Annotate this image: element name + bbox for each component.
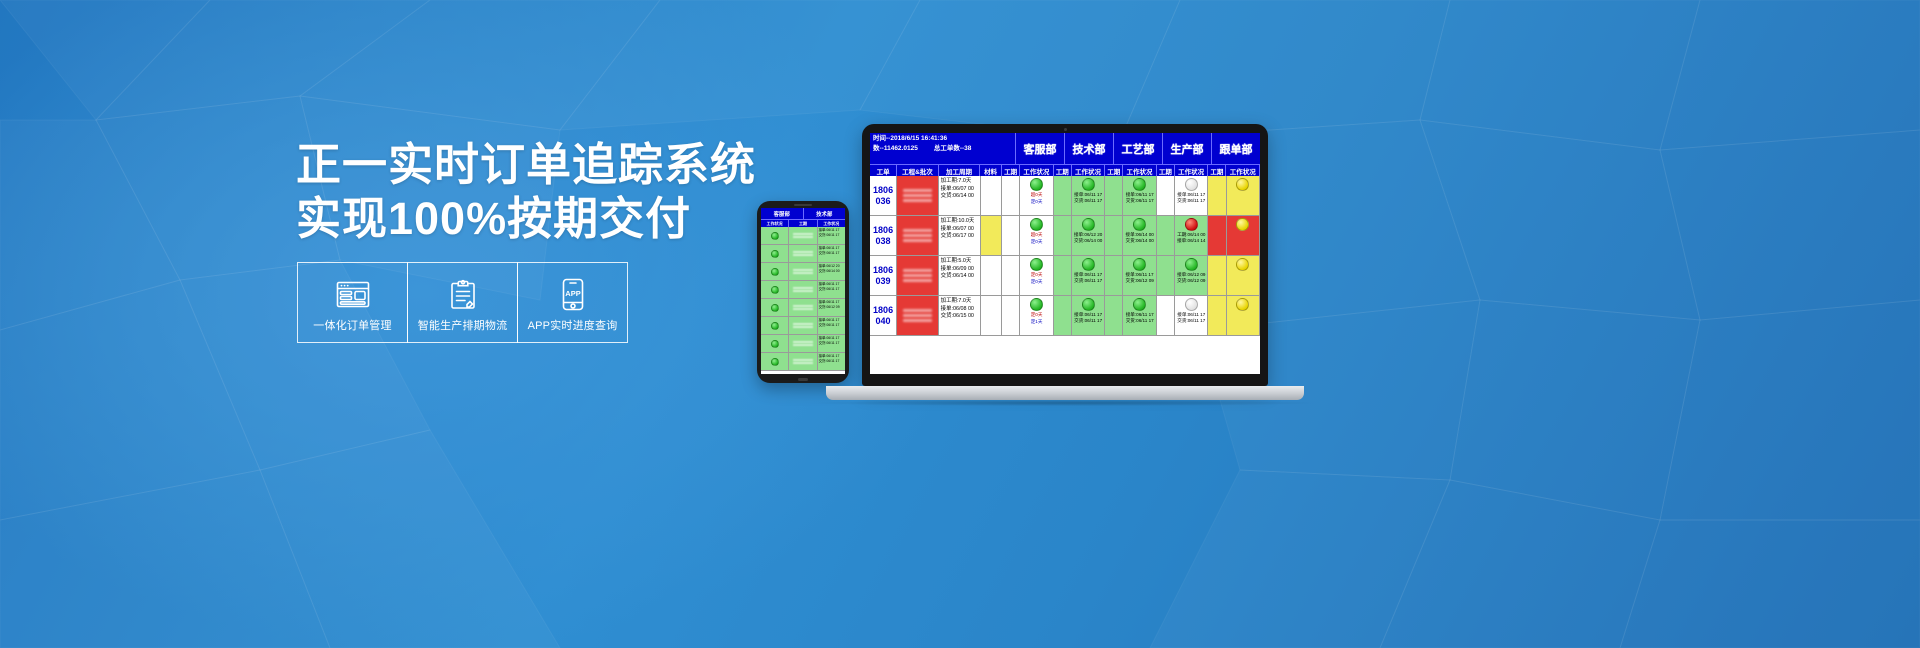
feature-label: APP实时进度查询 xyxy=(528,320,618,333)
material-cell xyxy=(981,176,1003,215)
status-indicator-green xyxy=(1133,298,1146,311)
col-header-工艺部-工期[interactable]: 工期 xyxy=(1105,165,1123,176)
order-number-cell: 1806036 xyxy=(870,176,897,215)
feature-item-production-scheduling[interactable]: 智能生产排期物流 xyxy=(407,262,518,343)
duration-cell-工艺部 xyxy=(1105,256,1123,295)
duration-cell-生产部 xyxy=(1157,256,1175,295)
phone-duration-cell xyxy=(789,245,817,262)
duration-cell-客服部 xyxy=(1002,216,1020,255)
phone-col-work-status-2: 工作状况 xyxy=(818,220,845,227)
list-item[interactable]: 接单:06/11 17交货:06/11 17 xyxy=(761,281,845,299)
duration-cell-工艺部 xyxy=(1105,296,1123,335)
duration-cell-工艺部 xyxy=(1105,176,1123,215)
material-cell xyxy=(981,296,1003,335)
status-sub-fixed: 定0天 xyxy=(1031,239,1043,245)
laptop-camera-icon xyxy=(1064,128,1067,131)
phone-status-cell-cs[interactable] xyxy=(761,353,789,370)
phone-status-info: 接单:06/11 17交货:06/11 17 xyxy=(818,245,845,256)
duration-cell-生产部 xyxy=(1157,176,1175,215)
dept-customer-service[interactable]: 客服部 xyxy=(1016,133,1065,164)
status-indicator-yellow xyxy=(1236,178,1249,191)
work-status-cell-工艺部[interactable]: 接单:06/11 17交货:06/12 09 xyxy=(1123,256,1156,295)
status-indicator-green xyxy=(1133,258,1146,271)
laptop-shadow xyxy=(814,400,1316,406)
hero-banner: 正一实时订单追踪系统 实现100%按期交付 一体化订单管理 xyxy=(0,0,1920,648)
phone-screen[interactable]: 客服部 技术部 工作状况 工期 工作状况 接单:06/11 17交货:06/11… xyxy=(761,208,845,374)
duration-cell-客服部 xyxy=(1002,296,1020,335)
work-status-cell-客服部[interactable]: 定0天定1天 xyxy=(1020,296,1053,335)
column-header-row: 工单工程&批次加工周期材料工期工作状况工期工作状况工期工作状况工期工作状况工期工… xyxy=(870,164,1260,176)
department-header-row: 客服部 技术部 工艺部 生产部 跟单部 xyxy=(1016,133,1260,164)
phone-status-cell-cs[interactable] xyxy=(761,317,789,334)
clipboard-schedule-icon xyxy=(449,277,477,313)
col-header-生产部-工期[interactable]: 工期 xyxy=(1157,165,1175,176)
work-status-cell-生产部[interactable]: 工期:06/14 00接单:06/14 14 xyxy=(1175,216,1208,255)
list-item[interactable]: 接单:06/11 17交货:06/11 17 xyxy=(761,245,845,263)
duration-cell-跟单部 xyxy=(1208,176,1226,215)
work-status-cell-技术部[interactable]: 接单:06/11 17交货:06/11 17 xyxy=(1072,256,1105,295)
status-indicator-green xyxy=(1030,178,1043,191)
phone-status-info: 接单:06/12 20交货:06/14 00 xyxy=(818,263,845,274)
phone-duration-cell xyxy=(789,299,817,316)
status-indicator-green xyxy=(1030,258,1043,271)
status-sub-over: 定0天 xyxy=(1031,272,1043,278)
status-indicator-green xyxy=(771,322,779,330)
phone-status-cell-tech[interactable]: 接单:06/11 17交货:06/11 17 xyxy=(818,317,845,334)
duration-cell-技术部 xyxy=(1054,256,1072,295)
phone-duration-cell xyxy=(789,335,817,352)
duration-cell-生产部 xyxy=(1157,296,1175,335)
status-indicator-white xyxy=(1185,178,1198,191)
table-row[interactable]: 1806039加工期:5.0天接单:06/09 00交货:06/14 00定0天… xyxy=(870,256,1260,296)
phone-duration-cell xyxy=(789,263,817,280)
work-status-cell-客服部[interactable]: 超0天定0天 xyxy=(1020,216,1053,255)
dept-merchandising[interactable]: 跟单部 xyxy=(1212,133,1260,164)
duration-cell-跟单部 xyxy=(1208,216,1226,255)
phone-duration-cell xyxy=(789,227,817,244)
phone-duration-cell xyxy=(789,317,817,334)
status-indicator-green xyxy=(771,232,779,240)
feature-label: 智能生产排期物流 xyxy=(418,320,508,333)
work-status-cell-技术部[interactable]: 接单:06/12 20交货:06/14 00 xyxy=(1072,216,1105,255)
meta-time: 时间--2018/6/15 16:41:36 xyxy=(873,134,947,144)
status-sub-over: 定0天 xyxy=(1031,312,1043,318)
status-sub-fixed: 定0天 xyxy=(1031,279,1043,285)
table-row[interactable]: 1806036加工期:7.0天接单:06/07 00交货:06/14 00超0天… xyxy=(870,176,1260,216)
status-indicator-green xyxy=(1030,298,1043,311)
phone-col-duration: 工期 xyxy=(789,220,817,227)
order-number-cell: 1806038 xyxy=(870,216,897,255)
list-item[interactable]: 接单:06/11 17交货:06/11 17 xyxy=(761,227,845,245)
col-header-技术部-工期[interactable]: 工期 xyxy=(1054,165,1072,176)
status-indicator-yellow xyxy=(1236,258,1249,271)
project-batch-cell xyxy=(897,256,939,295)
status-info: 接单:06/11 17交货:06/11 17 xyxy=(1177,192,1205,204)
status-info: 接单:06/11 17交货:06/12 09 xyxy=(1126,272,1154,284)
phone-status-info: 接单:06/11 17交货:06/11 17 xyxy=(818,317,845,328)
col-header-left-3[interactable]: 材料 xyxy=(980,165,1002,176)
status-indicator-red xyxy=(1185,218,1198,231)
duration-cell-生产部 xyxy=(1157,216,1175,255)
phone-department-header: 客服部 技术部 xyxy=(761,208,845,219)
status-info: 接单:06/11 17交货:06/11 17 xyxy=(1126,312,1154,324)
work-status-cell-生产部[interactable]: 接单:06/12 09交货:06/12 09 xyxy=(1175,256,1208,295)
processing-cycle-cell: 加工期:5.0天接单:06/09 00交货:06/14 00 xyxy=(939,256,981,295)
phone-col-work-status-1: 工作状况 xyxy=(761,220,789,227)
status-indicator-green xyxy=(1082,178,1095,191)
feature-item-app-tracking[interactable]: APP APP实时进度查询 xyxy=(517,262,628,343)
phone-status-cell-cs[interactable] xyxy=(761,227,789,244)
phone-status-cell-cs[interactable] xyxy=(761,245,789,262)
work-status-cell-工艺部[interactable]: 接单:06/11 17交货:06/11 17 xyxy=(1123,296,1156,335)
laptop-mockup: 时间--2018/6/15 16:41:36 数--11462.0125 总工单… xyxy=(862,124,1268,420)
col-header-跟单部-工期[interactable]: 工期 xyxy=(1208,165,1226,176)
work-status-cell-工艺部[interactable]: 接单:06/14 00交货:06/14 00 xyxy=(1123,216,1156,255)
list-item[interactable]: 接单:06/11 17交货:06/11 17 xyxy=(761,335,845,353)
mobile-app-icon: APP xyxy=(561,277,585,313)
list-item[interactable]: 接单:06/12 20交货:06/14 00 xyxy=(761,263,845,281)
feature-label: 一体化订单管理 xyxy=(313,320,391,333)
status-indicator-green xyxy=(771,358,779,366)
phone-status-info: 接单:06/11 17交货:06/11 17 xyxy=(818,227,845,238)
phone-order-list: 接单:06/11 17交货:06/11 17接单:06/11 17交货:06/1… xyxy=(761,227,845,371)
status-indicator-green xyxy=(771,268,779,276)
list-item[interactable]: 接单:06/11 17交货:06/11 17 xyxy=(761,317,845,335)
work-status-cell-生产部[interactable]: 接单:06/11 17交货:06/11 17 xyxy=(1175,296,1208,335)
phone-status-info: 接单:06/11 17交货:06/11 17 xyxy=(818,353,845,364)
phone-duration-cell xyxy=(789,353,817,370)
work-status-cell-跟单部[interactable] xyxy=(1227,296,1260,335)
phone-status-cell-tech[interactable]: 接单:06/11 17交货:06/11 17 xyxy=(818,227,845,244)
list-item[interactable]: 接单:06/11 17交货:06/12 09 xyxy=(761,299,845,317)
status-indicator-white xyxy=(1185,298,1198,311)
svg-text:APP: APP xyxy=(565,289,580,298)
order-number-cell: 1806040 xyxy=(870,296,897,335)
dashboard-header: 时间--2018/6/15 16:41:36 数--11462.0125 总工单… xyxy=(870,133,1260,164)
work-status-cell-生产部[interactable]: 接单:06/11 17交货:06/11 17 xyxy=(1175,176,1208,215)
laptop-screen[interactable]: 时间--2018/6/15 16:41:36 数--11462.0125 总工单… xyxy=(870,133,1260,374)
project-batch-cell xyxy=(897,176,939,215)
status-indicator-green xyxy=(1185,258,1198,271)
table-row[interactable]: 1806040加工期:7.0天接单:06/08 00交货:06/15 00定0天… xyxy=(870,296,1260,336)
phone-status-cell-cs[interactable] xyxy=(761,263,789,280)
laptop-body: 时间--2018/6/15 16:41:36 数--11462.0125 总工单… xyxy=(862,124,1268,386)
status-sub-over: 超0天 xyxy=(1031,192,1043,198)
dept-production[interactable]: 生产部 xyxy=(1163,133,1212,164)
status-info: 接单:06/12 20交货:06/14 00 xyxy=(1074,232,1102,244)
status-sub-fixed: 定0天 xyxy=(1031,199,1043,205)
phone-dept-technical: 技术部 xyxy=(804,208,846,219)
status-info: 接单:06/12 09交货:06/12 09 xyxy=(1177,272,1205,284)
phone-status-cell-tech[interactable]: 接单:06/12 20交货:06/14 00 xyxy=(818,263,845,280)
status-info: 接单:06/11 17交货:06/11 17 xyxy=(1126,192,1154,204)
col-header-生产部-工作状况[interactable]: 工作状况 xyxy=(1175,165,1208,176)
status-info: 接单:06/11 17交货:06/11 17 xyxy=(1074,312,1102,324)
meta-total-orders: 总工单数--38 xyxy=(934,144,972,154)
processing-cycle-cell: 加工期:7.0天接单:06/08 00交货:06/15 00 xyxy=(939,296,981,335)
table-row[interactable]: 1806038加工期:10.0天接单:06/07 00交货:06/17 00超0… xyxy=(870,216,1260,256)
dashboard-meta: 时间--2018/6/15 16:41:36 数--11462.0125 总工单… xyxy=(870,133,1016,164)
window-dashboard-icon xyxy=(336,277,370,313)
phone-status-info: 接单:06/11 17交货:06/11 17 xyxy=(818,281,845,292)
phone-dept-customer-service: 客服部 xyxy=(761,208,804,219)
headline-line-1: 正一实时订单追踪系统 xyxy=(296,138,916,192)
status-info: 工期:06/14 00接单:06/14 14 xyxy=(1177,232,1205,244)
phone-status-cell-tech[interactable]: 接单:06/11 17交货:06/11 17 xyxy=(818,353,845,370)
work-status-cell-跟单部[interactable] xyxy=(1227,216,1260,255)
order-rows: 1806036加工期:7.0天接单:06/07 00交货:06/14 00超0天… xyxy=(870,176,1260,336)
processing-cycle-cell: 加工期:7.0天接单:06/07 00交货:06/14 00 xyxy=(939,176,981,215)
phone-status-cell-tech[interactable]: 接单:06/11 17交货:06/12 09 xyxy=(818,299,845,316)
phone-subheader: 工作状况 工期 工作状况 xyxy=(761,219,845,227)
project-batch-cell xyxy=(897,216,939,255)
feature-list: 一体化订单管理 智能生产排期物流 xyxy=(297,262,627,343)
status-indicator-green xyxy=(771,304,779,312)
col-header-left-2[interactable]: 加工周期 xyxy=(939,165,981,176)
phone-status-cell-cs[interactable] xyxy=(761,281,789,298)
phone-status-info: 接单:06/11 17交货:06/11 17 xyxy=(818,335,845,346)
list-item[interactable]: 接单:06/11 17交货:06/11 17 xyxy=(761,353,845,371)
status-indicator-green xyxy=(1082,218,1095,231)
status-info: 接单:06/11 17交货:06/11 17 xyxy=(1074,272,1102,284)
work-status-cell-技术部[interactable]: 接单:06/11 17交货:06/11 17 xyxy=(1072,176,1105,215)
phone-status-cell-tech[interactable]: 接单:06/11 17交货:06/11 17 xyxy=(818,281,845,298)
duration-cell-跟单部 xyxy=(1208,256,1226,295)
work-status-cell-客服部[interactable]: 超0天定0天 xyxy=(1020,176,1053,215)
duration-cell-技术部 xyxy=(1054,216,1072,255)
col-header-客服部-工作状况[interactable]: 工作状况 xyxy=(1020,165,1053,176)
col-header-工艺部-工作状况[interactable]: 工作状况 xyxy=(1123,165,1156,176)
status-indicator-green xyxy=(1030,218,1043,231)
status-indicator-green xyxy=(771,340,779,348)
work-status-cell-工艺部[interactable]: 接单:06/11 17交货:06/11 17 xyxy=(1123,176,1156,215)
duration-cell-客服部 xyxy=(1002,256,1020,295)
phone-speaker xyxy=(794,204,812,206)
meta-count: 数--11462.0125 xyxy=(873,144,918,154)
duration-cell-工艺部 xyxy=(1105,216,1123,255)
status-info: 接单:06/14 00交货:06/14 00 xyxy=(1126,232,1154,244)
phone-status-cell-cs[interactable] xyxy=(761,299,789,316)
phone-home-button[interactable] xyxy=(798,378,808,381)
processing-cycle-cell: 加工期:10.0天接单:06/07 00交货:06/17 00 xyxy=(939,216,981,255)
status-indicator-green xyxy=(771,286,779,294)
status-indicator-green xyxy=(1082,258,1095,271)
duration-cell-技术部 xyxy=(1054,296,1072,335)
dept-process[interactable]: 工艺部 xyxy=(1114,133,1163,164)
duration-cell-跟单部 xyxy=(1208,296,1226,335)
work-status-cell-技术部[interactable]: 接单:06/11 17交货:06/11 17 xyxy=(1072,296,1105,335)
order-tracking-dashboard: 时间--2018/6/15 16:41:36 数--11462.0125 总工单… xyxy=(870,133,1260,374)
col-header-left-0[interactable]: 工单 xyxy=(870,165,897,176)
status-indicator-yellow xyxy=(1236,298,1249,311)
status-indicator-green xyxy=(1082,298,1095,311)
phone-status-info: 接单:06/11 17交货:06/12 09 xyxy=(818,299,845,310)
col-header-技术部-工作状况[interactable]: 工作状况 xyxy=(1072,165,1105,176)
col-header-left-1[interactable]: 工程&批次 xyxy=(897,165,939,176)
status-sub-over: 超0天 xyxy=(1031,232,1043,238)
work-status-cell-跟单部[interactable] xyxy=(1227,256,1260,295)
status-indicator-green xyxy=(1133,178,1146,191)
status-info: 接单:06/11 17交货:06/11 17 xyxy=(1074,192,1102,204)
status-indicator-yellow xyxy=(1236,218,1249,231)
status-indicator-green xyxy=(1133,218,1146,231)
status-sub-fixed: 定1天 xyxy=(1031,319,1043,325)
work-status-cell-客服部[interactable]: 定0天定0天 xyxy=(1020,256,1053,295)
phone-status-cell-tech[interactable]: 接单:06/11 17交货:06/11 17 xyxy=(818,245,845,262)
laptop-base xyxy=(826,386,1304,400)
work-status-cell-跟单部[interactable] xyxy=(1227,176,1260,215)
material-cell xyxy=(981,256,1003,295)
feature-item-order-management[interactable]: 一体化订单管理 xyxy=(297,262,408,343)
smartphone-mockup: 客服部 技术部 工作状况 工期 工作状况 接单:06/11 17交货:06/11… xyxy=(757,201,849,383)
col-header-客服部-工期[interactable]: 工期 xyxy=(1002,165,1020,176)
status-info: 接单:06/11 17交货:06/11 17 xyxy=(1177,312,1205,324)
duration-cell-客服部 xyxy=(1002,176,1020,215)
duration-cell-技术部 xyxy=(1054,176,1072,215)
phone-status-cell-cs[interactable] xyxy=(761,335,789,352)
col-header-跟单部-工作状况[interactable]: 工作状况 xyxy=(1226,165,1259,176)
order-number-cell: 1806039 xyxy=(870,256,897,295)
phone-status-cell-tech[interactable]: 接单:06/11 17交货:06/11 17 xyxy=(818,335,845,352)
project-batch-cell xyxy=(897,296,939,335)
phone-duration-cell xyxy=(789,281,817,298)
status-indicator-green xyxy=(771,250,779,258)
dept-technical[interactable]: 技术部 xyxy=(1065,133,1114,164)
material-cell xyxy=(981,216,1003,255)
